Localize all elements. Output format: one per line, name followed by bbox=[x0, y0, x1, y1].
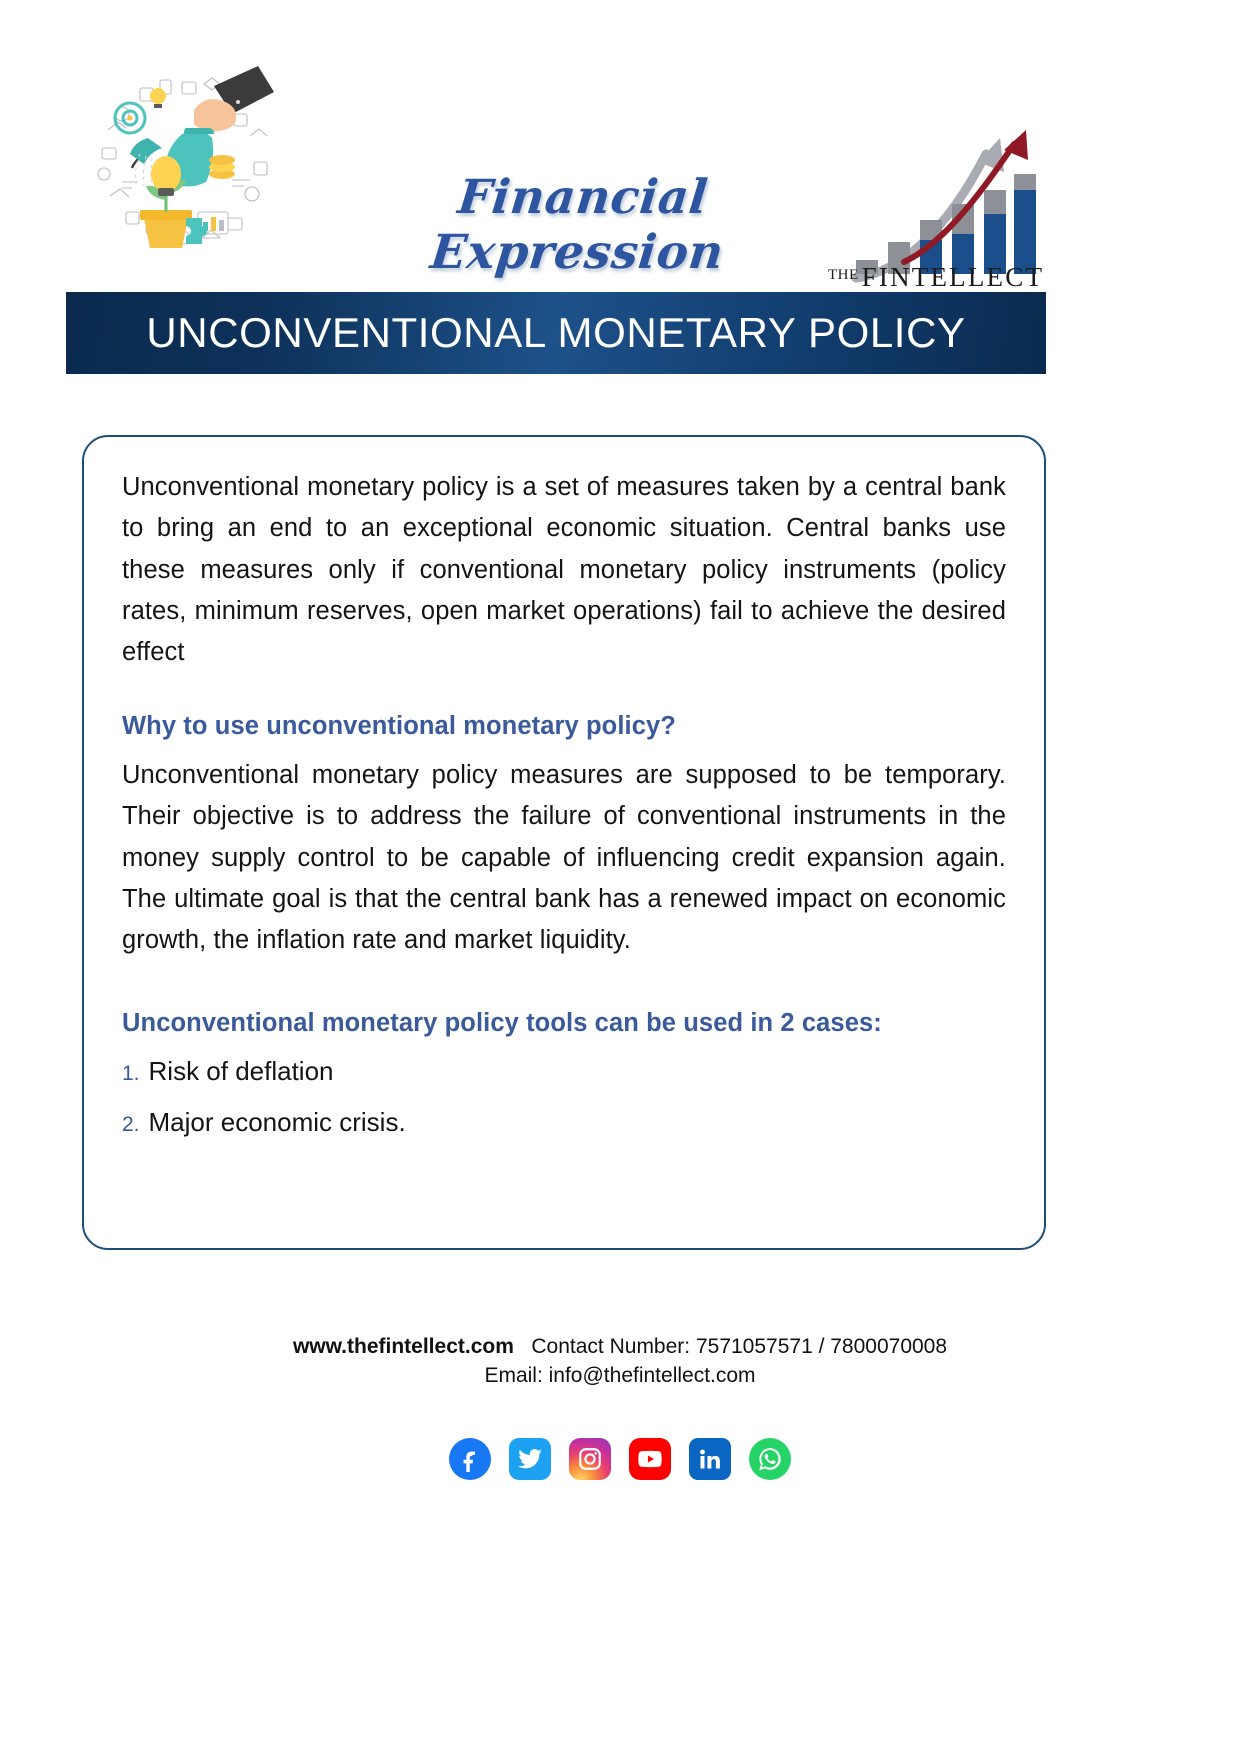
list-item-label: Major economic crisis. bbox=[149, 1106, 406, 1139]
instagram-icon[interactable] bbox=[569, 1438, 611, 1480]
linkedin-icon[interactable] bbox=[689, 1438, 731, 1480]
business-ideas-growth-illustration bbox=[82, 62, 282, 257]
website-link[interactable]: www.thefintellect.com bbox=[293, 1335, 514, 1358]
list-item-label: Risk of deflation bbox=[149, 1055, 334, 1088]
masthead-title: Financial Expression bbox=[374, 170, 786, 280]
youtube-icon[interactable] bbox=[629, 1438, 671, 1480]
cases-list: 1. Risk of deflation 2. Major economic c… bbox=[122, 1055, 1006, 1138]
contact-number-label: Contact Number: 7571057571 / 7800070008 bbox=[531, 1335, 947, 1358]
section-heading-why: Why to use unconventional monetary polic… bbox=[122, 709, 1006, 745]
brand-wordmark: THEFINTELLECT bbox=[828, 262, 1043, 293]
article-content-box: Unconventional monetary policy is a set … bbox=[82, 435, 1046, 1250]
list-item: 1. Risk of deflation bbox=[122, 1055, 1006, 1088]
list-item-number: 2. bbox=[122, 1112, 140, 1138]
body-paragraph-why: Unconventional monetary policy measures … bbox=[122, 755, 1006, 961]
social-links-row bbox=[0, 1438, 1240, 1480]
footer-contact-line: www.thefintellect.com Contact Number: 75… bbox=[0, 1335, 1240, 1359]
list-item: 2. Major economic crisis. bbox=[122, 1106, 1006, 1139]
newsletter-page: Financial Expression bbox=[0, 0, 1240, 1754]
section-heading-tools: Unconventional monetary policy tools can… bbox=[122, 1006, 1006, 1042]
list-item-number: 1. bbox=[122, 1061, 140, 1087]
footer-email-line[interactable]: Email: info@thefintellect.com bbox=[0, 1364, 1240, 1388]
brand-the-label: THE bbox=[828, 267, 859, 283]
title-banner: UNCONVENTIONAL MONETARY POLICY bbox=[66, 292, 1046, 374]
page-header: Financial Expression bbox=[0, 52, 1240, 267]
intro-paragraph: Unconventional monetary policy is a set … bbox=[122, 467, 1006, 673]
facebook-icon[interactable] bbox=[449, 1438, 491, 1480]
brand-fintellect-label: FINTELLECT bbox=[862, 262, 1044, 292]
page-footer: www.thefintellect.com Contact Number: 75… bbox=[0, 1335, 1240, 1388]
whatsapp-icon[interactable] bbox=[749, 1438, 791, 1480]
twitter-icon[interactable] bbox=[509, 1438, 551, 1480]
page-title: UNCONVENTIONAL MONETARY POLICY bbox=[146, 309, 965, 357]
